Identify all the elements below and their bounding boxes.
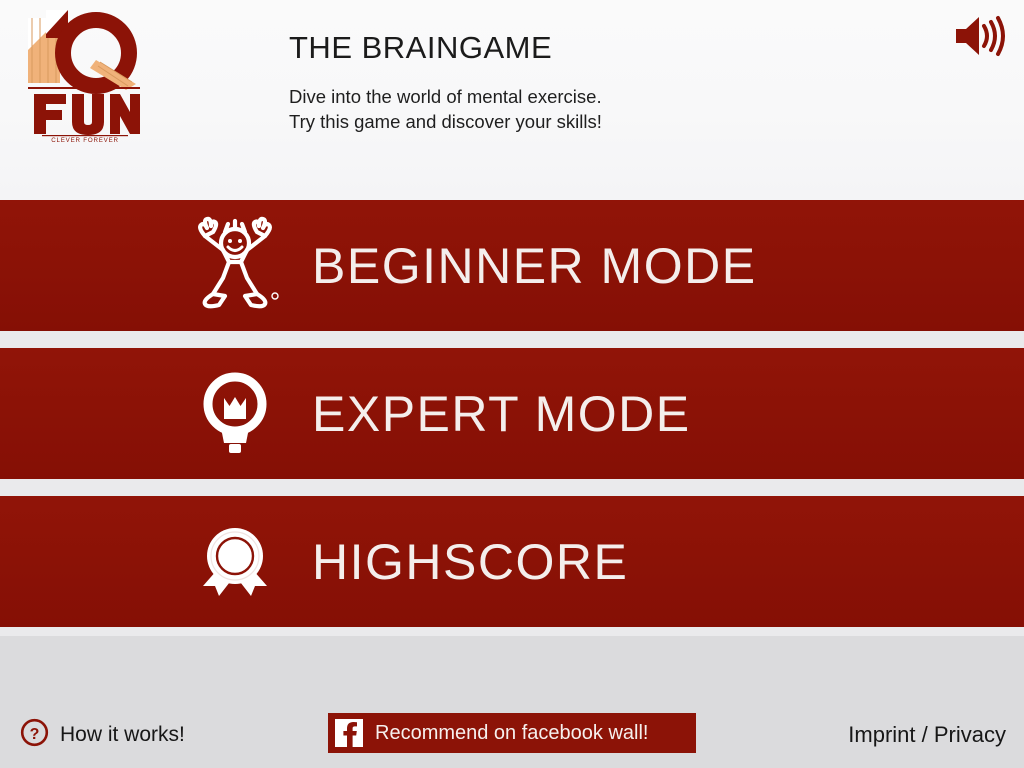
mode-menu: BEGINNER MODE EXPERT MODE bbox=[0, 200, 1024, 636]
highscore-label: HIGHSCORE bbox=[312, 537, 628, 587]
speaker-volume-icon[interactable] bbox=[952, 12, 1006, 60]
award-medal-icon bbox=[180, 507, 290, 617]
subtitle-line-2: Try this game and discover your skills! bbox=[289, 109, 602, 134]
page-title: THE BRAINGAME bbox=[289, 28, 602, 68]
facebook-recommend-label: Recommend on facebook wall! bbox=[375, 722, 648, 745]
imprint-privacy-link[interactable]: Imprint / Privacy bbox=[848, 722, 1006, 748]
facebook-recommend-button[interactable]: Recommend on facebook wall! bbox=[328, 713, 696, 753]
beginner-mode-button[interactable]: BEGINNER MODE bbox=[0, 200, 1024, 331]
beginner-mode-label: BEGINNER MODE bbox=[312, 241, 757, 291]
subtitle: Dive into the world of mental exercise. … bbox=[289, 84, 602, 134]
svg-text:CLEVER FOREVER: CLEVER FOREVER bbox=[51, 137, 119, 143]
braingame-app: CLEVER FOREVER THE BRAINGAME Dive into t… bbox=[0, 0, 1024, 768]
iq-fun-logo[interactable]: CLEVER FOREVER bbox=[20, 8, 150, 143]
svg-text:?: ? bbox=[30, 726, 40, 743]
page-header: CLEVER FOREVER THE BRAINGAME Dive into t… bbox=[0, 0, 1024, 200]
highscore-button[interactable]: HIGHSCORE bbox=[0, 496, 1024, 627]
how-it-works-link[interactable]: ? How it works! bbox=[20, 718, 185, 752]
question-mark-circle-icon: ? bbox=[20, 718, 49, 752]
how-it-works-label: How it works! bbox=[60, 723, 185, 747]
cheering-figure-icon bbox=[180, 211, 290, 321]
expert-mode-label: EXPERT MODE bbox=[312, 389, 691, 439]
expert-mode-button[interactable]: EXPERT MODE bbox=[0, 348, 1024, 479]
lightbulb-icon bbox=[180, 359, 290, 469]
title-block: THE BRAINGAME Dive into the world of men… bbox=[289, 28, 602, 134]
subtitle-line-1: Dive into the world of mental exercise. bbox=[289, 84, 602, 109]
facebook-f-icon bbox=[335, 719, 363, 747]
